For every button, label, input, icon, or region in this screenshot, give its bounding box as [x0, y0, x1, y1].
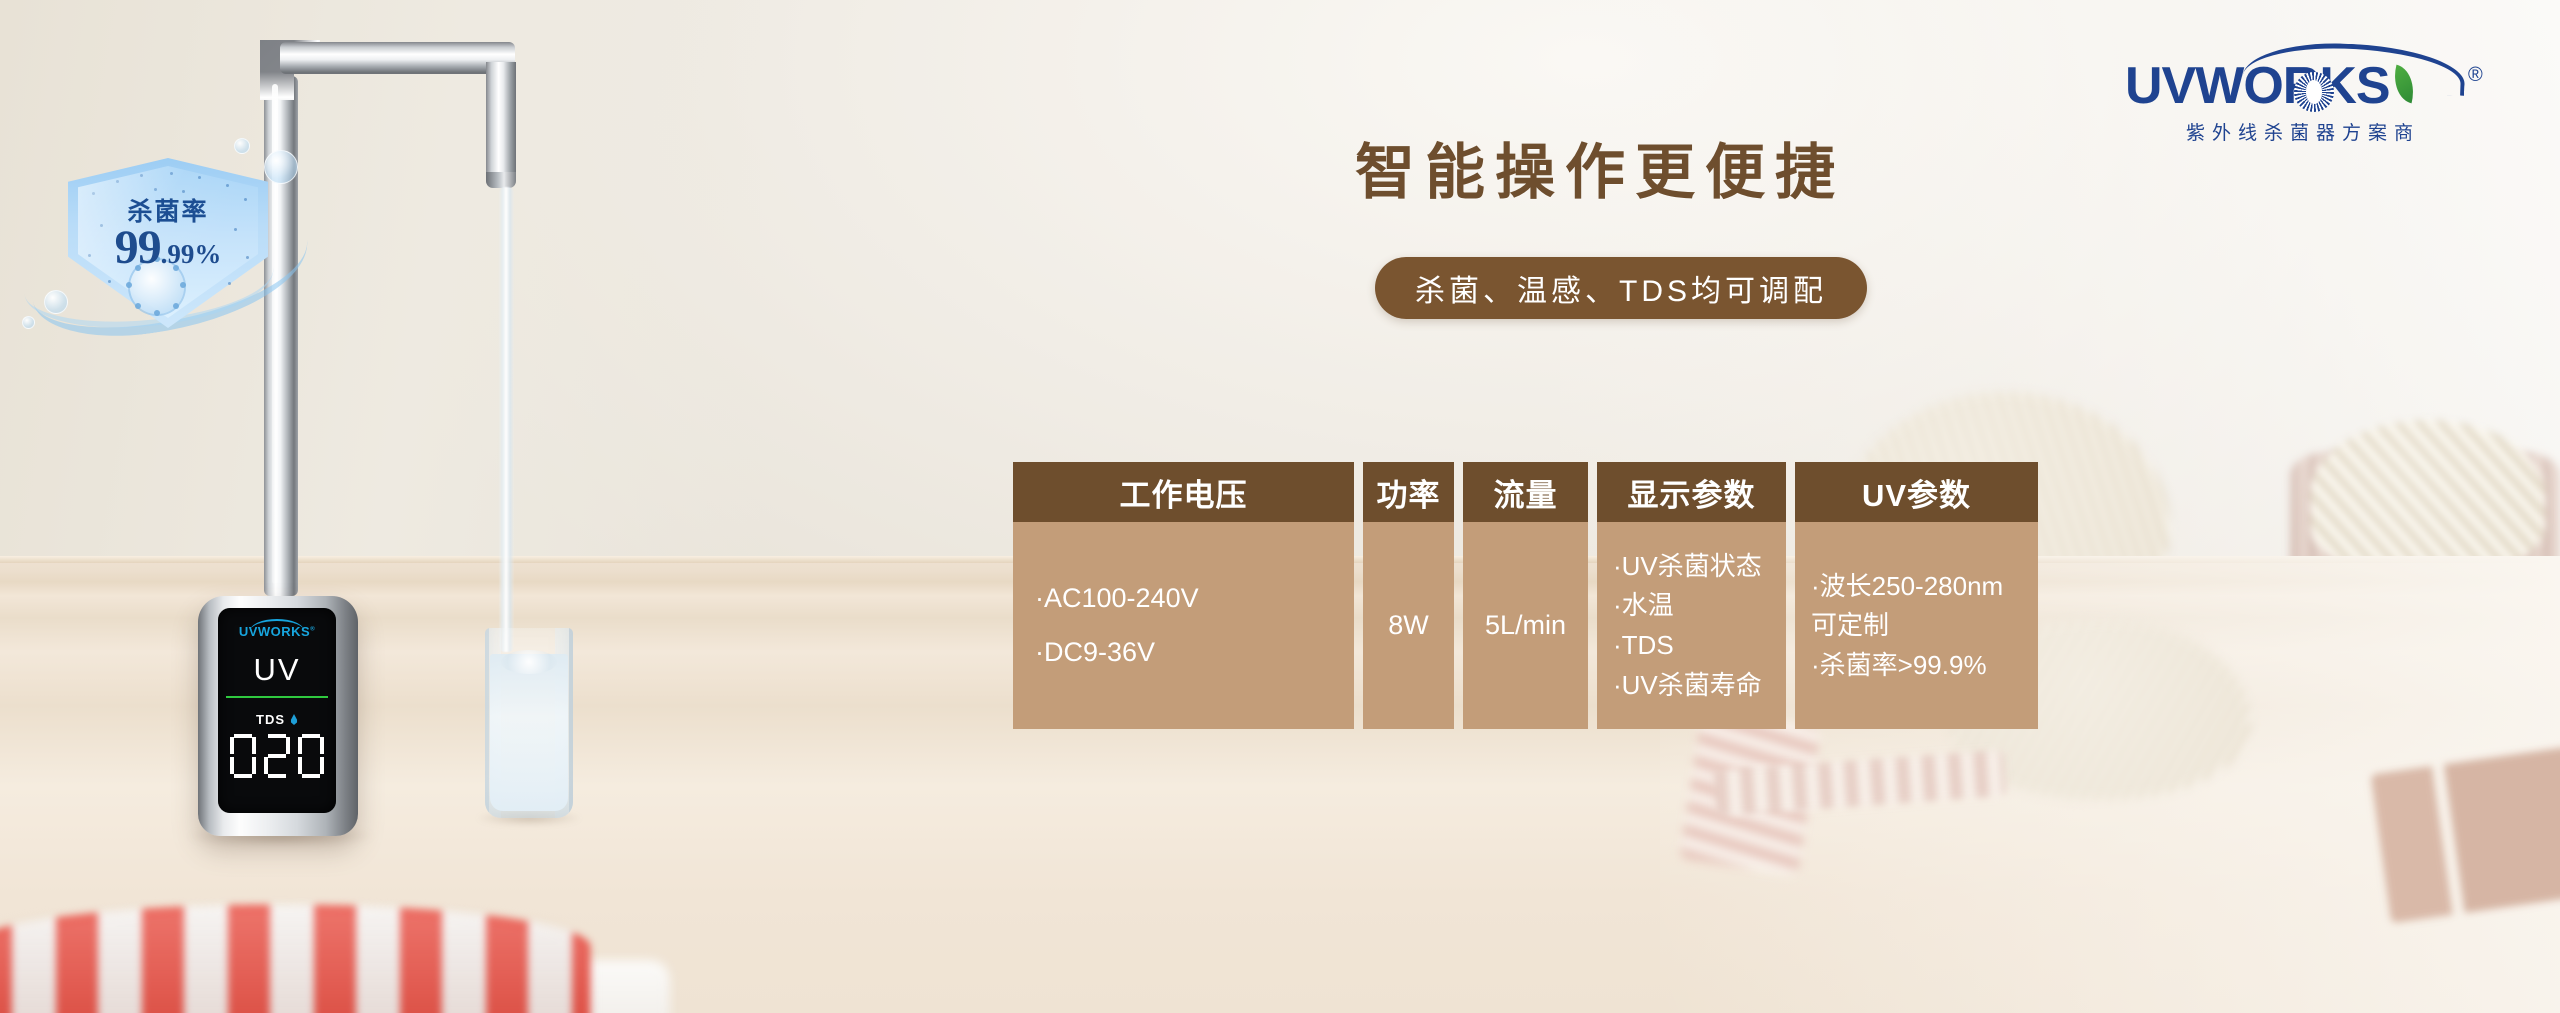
spec-line: 可定制 — [1811, 611, 1889, 640]
water-glass — [485, 628, 573, 818]
page-title: 智能操作更便捷 — [1355, 124, 1975, 211]
device-tds-row: TDS — [218, 712, 336, 727]
device-logo: UVWORKS® — [218, 624, 336, 639]
uv-sterilizer-device: UVWORKS® UV TDS — [198, 596, 358, 836]
spec-header: 显示参数 — [1597, 462, 1786, 522]
spec-header: 功率 — [1363, 462, 1454, 522]
brand-tagline: 紫外线杀菌器方案商 — [2133, 118, 2473, 145]
badge-value-integer: 99 — [115, 221, 161, 274]
device-mode-label: UV — [218, 652, 336, 688]
spec-line: 8W — [1388, 611, 1429, 641]
spec-line: ·水温 — [1613, 591, 1674, 620]
device-status-bar — [226, 696, 328, 698]
device-tds-value — [218, 734, 336, 783]
spec-column-uv: UV参数 ·波长250-280nm 可定制 ·杀菌率>99.9% — [1795, 462, 2038, 729]
spec-line: ·AC100-240V — [1035, 584, 1199, 614]
spec-column-display: 显示参数 ·UV杀菌状态 ·水温 ·TDS ·UV杀菌寿命 — [1597, 462, 1786, 729]
feature-pill: 杀菌、温感、TDS均可调配 — [1375, 257, 1867, 319]
water-drop-icon — [290, 714, 298, 725]
bubble-icon — [264, 150, 298, 184]
spec-body: ·AC100-240V ·DC9-36V — [1013, 522, 1354, 729]
water-stream — [499, 187, 514, 652]
spec-body: 8W — [1363, 522, 1454, 729]
spec-header: 工作电压 — [1013, 462, 1354, 522]
device-logo-swoosh-icon — [250, 619, 304, 631]
seven-segment-digit — [230, 734, 256, 778]
brand-logo: UVWORKS ® 紫外线杀菌器方案商 — [2125, 36, 2515, 146]
spec-column-voltage: 工作电压 ·AC100-240V ·DC9-36V — [1013, 462, 1354, 729]
bubble-icon — [22, 316, 35, 329]
sterilization-rate-badge: 杀菌率 99.99% — [20, 140, 310, 340]
spec-body: 5L/min — [1463, 522, 1588, 729]
badge-value-decimal: .99% — [161, 239, 222, 269]
spec-table: 工作电压 ·AC100-240V ·DC9-36V 功率 8W 流量 5L/mi… — [1013, 462, 2038, 729]
bubble-icon — [234, 138, 250, 154]
spec-header: 流量 — [1463, 462, 1588, 522]
badge-value: 99.99% — [68, 220, 268, 275]
faucet-downspout — [486, 62, 516, 182]
faucet-spout-tip — [486, 172, 516, 188]
logo-registered-mark: ® — [2468, 64, 2483, 87]
glass-water — [490, 654, 568, 811]
spec-line: ·杀菌率>99.9% — [1811, 651, 1987, 680]
spec-line: ·DC9-36V — [1035, 638, 1155, 668]
spec-line: ·UV杀菌状态 — [1613, 552, 1762, 581]
feature-pill-label: 杀菌、温感、TDS均可调配 — [1415, 266, 1827, 310]
spec-line: 5L/min — [1485, 611, 1566, 641]
spec-column-flow: 流量 5L/min — [1463, 462, 1588, 729]
device-logo-registered: ® — [310, 627, 315, 633]
spec-column-power: 功率 8W — [1363, 462, 1454, 729]
device-screen[interactable]: UVWORKS® UV TDS — [218, 608, 336, 813]
spec-line: ·TDS — [1613, 631, 1674, 660]
red-cloth-shading — [0, 905, 590, 1013]
seven-segment-digit — [264, 734, 290, 778]
basket-contents — [2310, 420, 2545, 570]
logo-arc-icon — [2242, 40, 2466, 96]
spec-body: ·UV杀菌状态 ·水温 ·TDS ·UV杀菌寿命 — [1597, 522, 1786, 729]
bubble-icon — [44, 290, 68, 314]
wooden-tiles — [2371, 747, 2560, 923]
spec-body: ·波长250-280nm 可定制 ·杀菌率>99.9% — [1795, 522, 2038, 729]
logo-sunburst-center — [2306, 80, 2322, 104]
spec-line: ·UV杀菌寿命 — [1613, 671, 1762, 700]
faucet-horizontal-pipe — [280, 42, 515, 74]
seven-segment-digit — [298, 734, 324, 778]
water-splash — [501, 650, 557, 674]
spec-line: ·波长250-280nm — [1811, 572, 2003, 601]
device-tds-label: TDS — [256, 712, 285, 727]
spec-header: UV参数 — [1795, 462, 2038, 522]
